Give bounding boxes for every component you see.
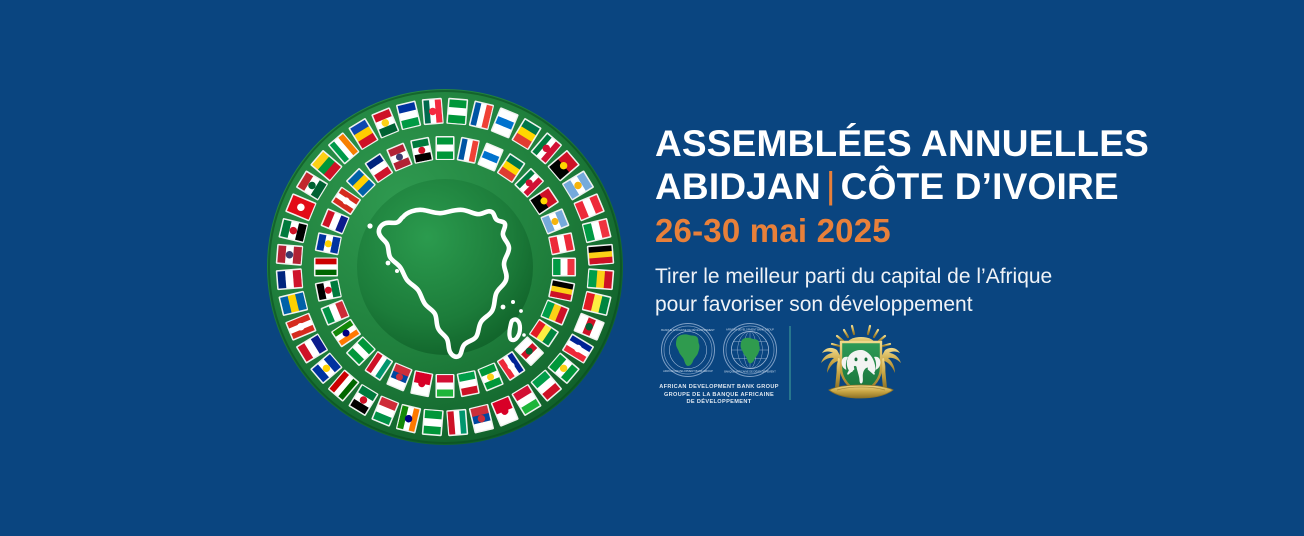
flag-tile [315,233,341,255]
afdb-emblem-pair: BANQUE AFRICAINE DE DÉVELOPPEMENT AFRICA… [657,322,781,380]
palm-tree-left [821,348,843,388]
cote-divoire-coat-of-arms [813,320,909,404]
headline-country: CÔTE D’IVOIRE [841,166,1119,207]
flag-tile [315,279,341,301]
tagline: Tirer le meilleur parti du capital de l’… [655,263,1275,319]
flag-tile [457,137,479,163]
afdb-wordmark-line-3: DE DÉVELOPPEMENT [659,399,779,407]
headline-block: ASSEMBLÉES ANNUELLES ABIDJAN|CÔTE D’IVOI… [655,122,1275,319]
flag-tile [276,244,302,265]
afdb-wordmark-line-1: AFRICAN DEVELOPMENT BANK GROUP [659,384,779,392]
headline-city: ABIDJAN [655,166,821,207]
flag-tile [315,258,338,276]
flag-tile [276,269,302,290]
african-development-bank-group-logo: BANQUE AFRICAINE DE DÉVELOPPEMENT AFRICA… [655,322,783,407]
flag-tile [587,244,613,265]
flag-tile [411,371,433,397]
tagline-line-2: pour favoriser son développement [655,291,1275,319]
flag-tile [436,375,454,398]
logo-divider [789,326,791,400]
flag-tile [553,258,576,276]
afdb-wordmark: AFRICAN DEVELOPMENT BANK GROUP GROUPE DE… [659,384,779,407]
flag-tile [411,137,433,163]
afdb-globe-seal-icon: AFRICAN DEVELOPMENT BANK GROUP BANQUE AF… [719,322,781,380]
event-dates: 26-30 mai 2025 [655,211,1275,251]
headline-line-2: ABIDJAN|CÔTE D’IVOIRE [655,165,1275,208]
tagline-line-1: Tirer le meilleur parti du capital de l’… [655,263,1275,291]
flag-tile [422,98,443,124]
logo-row: BANQUE AFRICAINE DE DÉVELOPPEMENT AFRICA… [655,322,909,407]
flag-tile [457,371,479,397]
svg-text:BANQUE AFRICAINE DE DÉVELOPPEM: BANQUE AFRICAINE DE DÉVELOPPEMENT [724,370,776,373]
annual-meetings-banner: ASSEMBLÉES ANNUELLES ABIDJAN|CÔTE D’IVOI… [0,0,1304,536]
flag-tile [447,98,468,124]
headline-separator: | [821,165,841,206]
svg-text:BANQUE AFRICAINE DE DÉVELOPPEM: BANQUE AFRICAINE DE DÉVELOPPEMENT [661,327,715,332]
afdb-africa-seal-icon: BANQUE AFRICAINE DE DÉVELOPPEMENT AFRICA… [657,322,719,380]
flag-tile [587,269,613,290]
flag-tile [549,233,575,255]
flag-tile [447,409,468,435]
svg-text:AFRICAN DEVELOPMENT BANK GROUP: AFRICAN DEVELOPMENT BANK GROUP [663,369,713,373]
afdb-flags-circle-emblem [266,88,624,446]
flag-tile [422,409,443,435]
palm-tree-right [879,348,901,388]
svg-text:AFRICAN DEVELOPMENT BANK GROUP: AFRICAN DEVELOPMENT BANK GROUP [726,329,774,332]
flag-tile [549,279,575,301]
flag-tile [436,137,454,160]
headline-line-1: ASSEMBLÉES ANNUELLES [655,122,1275,165]
